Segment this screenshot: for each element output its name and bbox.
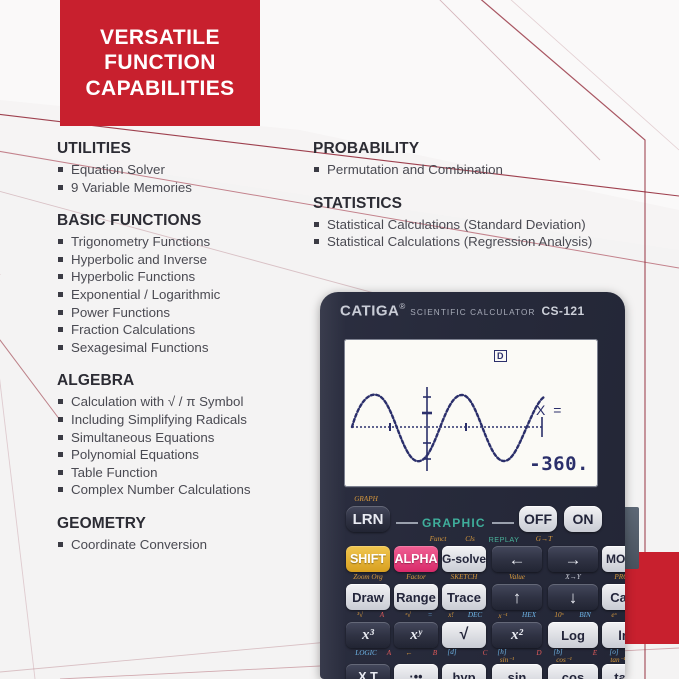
bin-label: BIN [572, 611, 598, 619]
feature-column-right: PROBABILITY Permutation and Combination … [313, 140, 673, 267]
bullet-icon [58, 167, 63, 172]
atan-label: tan⁻¹ [602, 655, 625, 664]
key-arrow-down[interactable]: ↓ [548, 584, 598, 610]
trace-shift-label: SKETCH [442, 573, 486, 581]
list-item-label: Permutation and Combination [327, 162, 503, 177]
bullet-icon [314, 222, 319, 227]
row5-red-c: C [478, 649, 492, 657]
key-on[interactable]: ON [564, 506, 602, 532]
hex-label: HEX [516, 611, 542, 619]
bullet-icon [58, 435, 63, 440]
oct-label: OCT [624, 611, 625, 619]
up-shift-label: Value [492, 573, 542, 581]
list-item: Statistical Calculations (Standard Devia… [313, 216, 673, 234]
list-item-label: Table Function [71, 465, 157, 480]
bullet-icon [58, 310, 63, 315]
list-item: Trigonometry Functions [57, 233, 307, 251]
list-item: Sexagesimal Functions [57, 339, 307, 357]
list-item: Simultaneous Equations [57, 429, 307, 447]
arrow-down-icon: ↓ [569, 589, 578, 606]
key-cos[interactable]: cos [548, 664, 598, 679]
section-heading: STATISTICS [313, 195, 673, 213]
left-arrow-shift-label: Cls [460, 535, 480, 543]
bullet-icon [58, 399, 63, 404]
calculator-side-tab [625, 507, 639, 569]
ten-power-label: 10ˣ [546, 611, 572, 619]
down-shift-label: X→Y [548, 573, 598, 581]
poster-title-block: VERSATILE FUNCTION CAPABILITIES [60, 0, 260, 126]
bullet-icon [58, 345, 63, 350]
list-item: Equation Solver [57, 161, 307, 179]
row5-red-b: B [428, 649, 442, 657]
section-list: Calculation with √ / π Symbol Including … [57, 393, 307, 499]
dec-bracket-label: [d] [442, 648, 462, 656]
key-x-power-y[interactable]: xʸ [394, 622, 438, 648]
calc-shift-label: PROG [602, 573, 625, 581]
key-draw[interactable]: Draw [346, 584, 390, 610]
page-title: VERSATILE FUNCTION CAPABILITIES [60, 25, 260, 102]
replay-label: REPLAY [480, 535, 528, 544]
dec-label: DEC [462, 611, 488, 619]
list-item-label: 9 Variable Memories [71, 180, 192, 195]
list-item: Calculation with √ / π Symbol [57, 393, 307, 411]
section-list: Permutation and Combination [313, 161, 673, 179]
keypad-row-5: LOGIC A ← B [d] C [h] sin⁻¹ D [b] cos⁻¹ … [320, 658, 625, 679]
row5-red-a: A [382, 649, 396, 657]
lrn-shift-label: GRAPH [346, 495, 386, 503]
section-list: Equation Solver 9 Variable Memories [57, 161, 307, 196]
feature-column-left: UTILITIES Equation Solver 9 Variable Mem… [57, 140, 307, 570]
poster-page: VERSATILE FUNCTION CAPABILITIES UTILITIE… [0, 0, 679, 679]
section-heading: ALGEBRA [57, 372, 307, 390]
key-sin[interactable]: sin [492, 664, 542, 679]
list-item: Fraction Calculations [57, 321, 307, 339]
key-label: x² [511, 627, 523, 644]
section-heading: PROBABILITY [313, 140, 673, 158]
section-basic-functions: BASIC FUNCTIONS Trigonometry Functions H… [57, 212, 307, 356]
right-arrow-shift-label: G→T [528, 535, 560, 543]
logic-label: LOGIC [348, 649, 384, 657]
calculator-brand: CATIGA®SCIENTIFIC CALCULATORCS-121 [340, 302, 610, 322]
row5-red-e: E [588, 649, 602, 657]
key-trace[interactable]: Trace [442, 584, 486, 610]
list-item: Exponential / Logarithmic [57, 286, 307, 304]
key-tan[interactable]: tan [602, 664, 625, 679]
key-dots[interactable]: ·•• [394, 664, 438, 679]
display-value: -360. [529, 453, 589, 475]
key-range[interactable]: Range [394, 584, 438, 610]
bullet-icon [314, 167, 319, 172]
brand-subtitle: SCIENTIFIC CALCULATOR [410, 308, 535, 317]
key-alpha[interactable]: ALPHA [394, 546, 438, 572]
list-item-label: Coordinate Conversion [71, 537, 207, 552]
display-variable-label: X = [536, 402, 563, 418]
registered-mark-icon: ® [399, 302, 405, 311]
key-label: x³ [362, 627, 374, 644]
list-item-label: Power Functions [71, 305, 170, 320]
bullet-icon [58, 487, 63, 492]
section-list: Statistical Calculations (Standard Devia… [313, 216, 673, 251]
list-item: 9 Variable Memories [57, 179, 307, 197]
section-utilities: UTILITIES Equation Solver 9 Variable Mem… [57, 140, 307, 196]
section-statistics: STATISTICS Statistical Calculations (Sta… [313, 195, 673, 251]
key-ln[interactable]: ln [602, 622, 625, 648]
list-item: Table Function [57, 464, 307, 482]
bullet-icon [58, 452, 63, 457]
list-item-label: Exponential / Logarithmic [71, 287, 220, 302]
key-arrow-left[interactable]: ← [492, 546, 542, 572]
key-label: xʸ [410, 627, 422, 644]
angle-mode-indicator: D [494, 350, 507, 362]
key-arrow-up[interactable]: ↑ [492, 584, 542, 610]
key-lrn[interactable]: LRN [346, 506, 390, 532]
brand-name: CATIGA [340, 302, 399, 319]
section-heading: UTILITIES [57, 140, 307, 158]
section-list: Coordinate Conversion [57, 536, 307, 554]
row4-equals-label: = [422, 611, 438, 619]
draw-shift-label: Zoom Org [346, 573, 390, 581]
bullet-icon [58, 327, 63, 332]
list-item: Statistical Calculations (Regression Ana… [313, 233, 673, 251]
list-item: Complex Number Calculations [57, 481, 307, 499]
key-shift[interactable]: SHIFT [346, 546, 390, 572]
list-item: Hyperbolic and Inverse [57, 251, 307, 269]
list-item: Polynomial Equations [57, 446, 307, 464]
list-item: Power Functions [57, 304, 307, 322]
key-hyp[interactable]: hyp [442, 664, 486, 679]
key-x-t[interactable]: X,T [346, 664, 390, 679]
bullet-icon [58, 542, 63, 547]
cube-root-label: ³√ [346, 611, 374, 619]
calculator-device: CATIGA®SCIENTIFIC CALCULATORCS-121 D X = [320, 292, 625, 679]
list-item-label: Polynomial Equations [71, 447, 199, 462]
bullet-icon [58, 274, 63, 279]
range-shift-label: Factor [394, 573, 438, 581]
row4-red-a: A [374, 611, 390, 619]
row5-red-d: D [532, 649, 546, 657]
section-geometry: GEOMETRY Coordinate Conversion [57, 515, 307, 554]
key-x-cubed[interactable]: x³ [346, 622, 390, 648]
bullet-icon [58, 470, 63, 475]
backspace-label: ← [400, 649, 418, 657]
key-x-squared[interactable]: x² [492, 622, 542, 648]
arrow-up-icon: ↑ [513, 589, 522, 606]
section-probability: PROBABILITY Permutation and Combination [313, 140, 673, 179]
list-item-label: Complex Number Calculations [71, 482, 251, 497]
list-item-label: Simultaneous Equations [71, 430, 214, 445]
key-calc[interactable]: Calc [602, 584, 625, 610]
key-off[interactable]: OFF [519, 506, 557, 532]
section-heading: BASIC FUNCTIONS [57, 212, 307, 230]
arrow-left-icon: ← [509, 551, 526, 568]
list-item-label: Statistical Calculations (Standard Devia… [327, 217, 586, 232]
brand-model: CS-121 [541, 304, 584, 318]
bullet-icon [58, 292, 63, 297]
section-algebra: ALGEBRA Calculation with √ / π Symbol In… [57, 372, 307, 499]
calculator-display: D X = -360. [344, 339, 598, 487]
factorial-label: x! [440, 611, 462, 619]
list-item-label: Hyperbolic Functions [71, 269, 195, 284]
list-item-label: Statistical Calculations (Regression Ana… [327, 234, 592, 249]
list-item-label: Calculation with √ / π Symbol [71, 394, 243, 409]
key-square-root[interactable]: √ [442, 622, 486, 648]
reciprocal-label: x⁻¹ [490, 611, 516, 620]
key-mode[interactable]: MODE [602, 546, 625, 572]
bullet-icon [314, 239, 319, 244]
asin-label: sin⁻¹ [492, 655, 522, 664]
list-item: Coordinate Conversion [57, 536, 307, 554]
xth-root-label: ˣ√ [394, 611, 422, 619]
list-item: Hyperbolic Functions [57, 268, 307, 286]
list-item-label: Hyperbolic and Inverse [71, 252, 207, 267]
arrow-right-icon: → [565, 551, 582, 568]
list-item-label: Trigonometry Functions [71, 234, 210, 249]
list-item-label: Including Simplifying Radicals [71, 412, 247, 427]
bullet-icon [58, 417, 63, 422]
e-power-label: eˣ [602, 611, 625, 619]
list-item-label: Equation Solver [71, 162, 165, 177]
list-item-label: Sexagesimal Functions [71, 340, 208, 355]
bullet-icon [58, 185, 63, 190]
key-log[interactable]: Log [548, 622, 598, 648]
gsolve-shift-label: Funct [418, 535, 458, 543]
bullet-icon [58, 239, 63, 244]
section-heading: GEOMETRY [57, 515, 307, 533]
list-item: Permutation and Combination [313, 161, 673, 179]
key-g-solve[interactable]: G-solve [442, 546, 486, 572]
acos-label: cos⁻¹ [548, 655, 580, 664]
list-item-label: Fraction Calculations [71, 322, 195, 337]
list-item: Including Simplifying Radicals [57, 411, 307, 429]
bullet-icon [58, 257, 63, 262]
section-list: Trigonometry Functions Hyperbolic and In… [57, 233, 307, 356]
key-arrow-right[interactable]: → [548, 546, 598, 572]
